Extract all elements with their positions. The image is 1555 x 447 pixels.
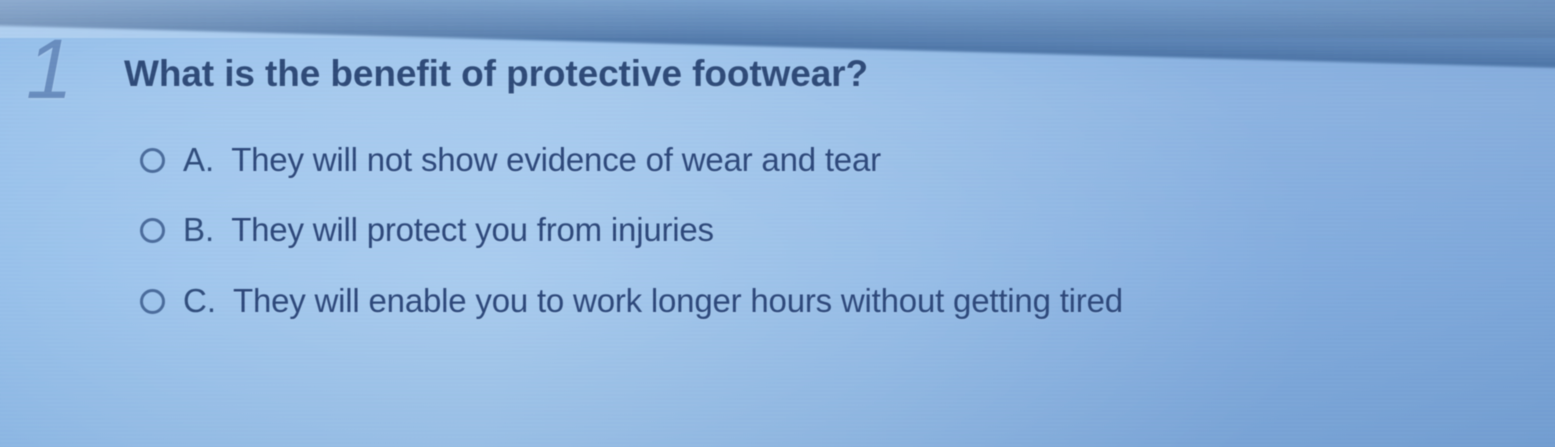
option-row-a[interactable]: A. They will not show evidence of wear a…	[140, 141, 881, 179]
option-label: They will not show evidence of wear and …	[231, 141, 881, 179]
question-content: 1 What is the benefit of protective foot…	[0, 0, 1555, 447]
option-row-b[interactable]: B. They will protect you from injuries	[140, 211, 714, 249]
question-text: What is the benefit of protective footwe…	[124, 52, 868, 96]
option-letter: B.	[183, 211, 214, 249]
radio-unchecked-icon[interactable]	[140, 148, 165, 173]
question-number: 1	[26, 27, 126, 111]
radio-unchecked-icon[interactable]	[140, 218, 165, 243]
option-row-c[interactable]: C. They will enable you to work longer h…	[140, 282, 1123, 320]
option-letter: A.	[183, 141, 214, 179]
option-label: They will enable you to work longer hour…	[233, 282, 1123, 320]
option-label: They will protect you from injuries	[231, 211, 714, 249]
option-letter: C.	[183, 282, 216, 320]
quiz-screen: 1 What is the benefit of protective foot…	[0, 0, 1555, 447]
radio-unchecked-icon[interactable]	[140, 289, 165, 314]
